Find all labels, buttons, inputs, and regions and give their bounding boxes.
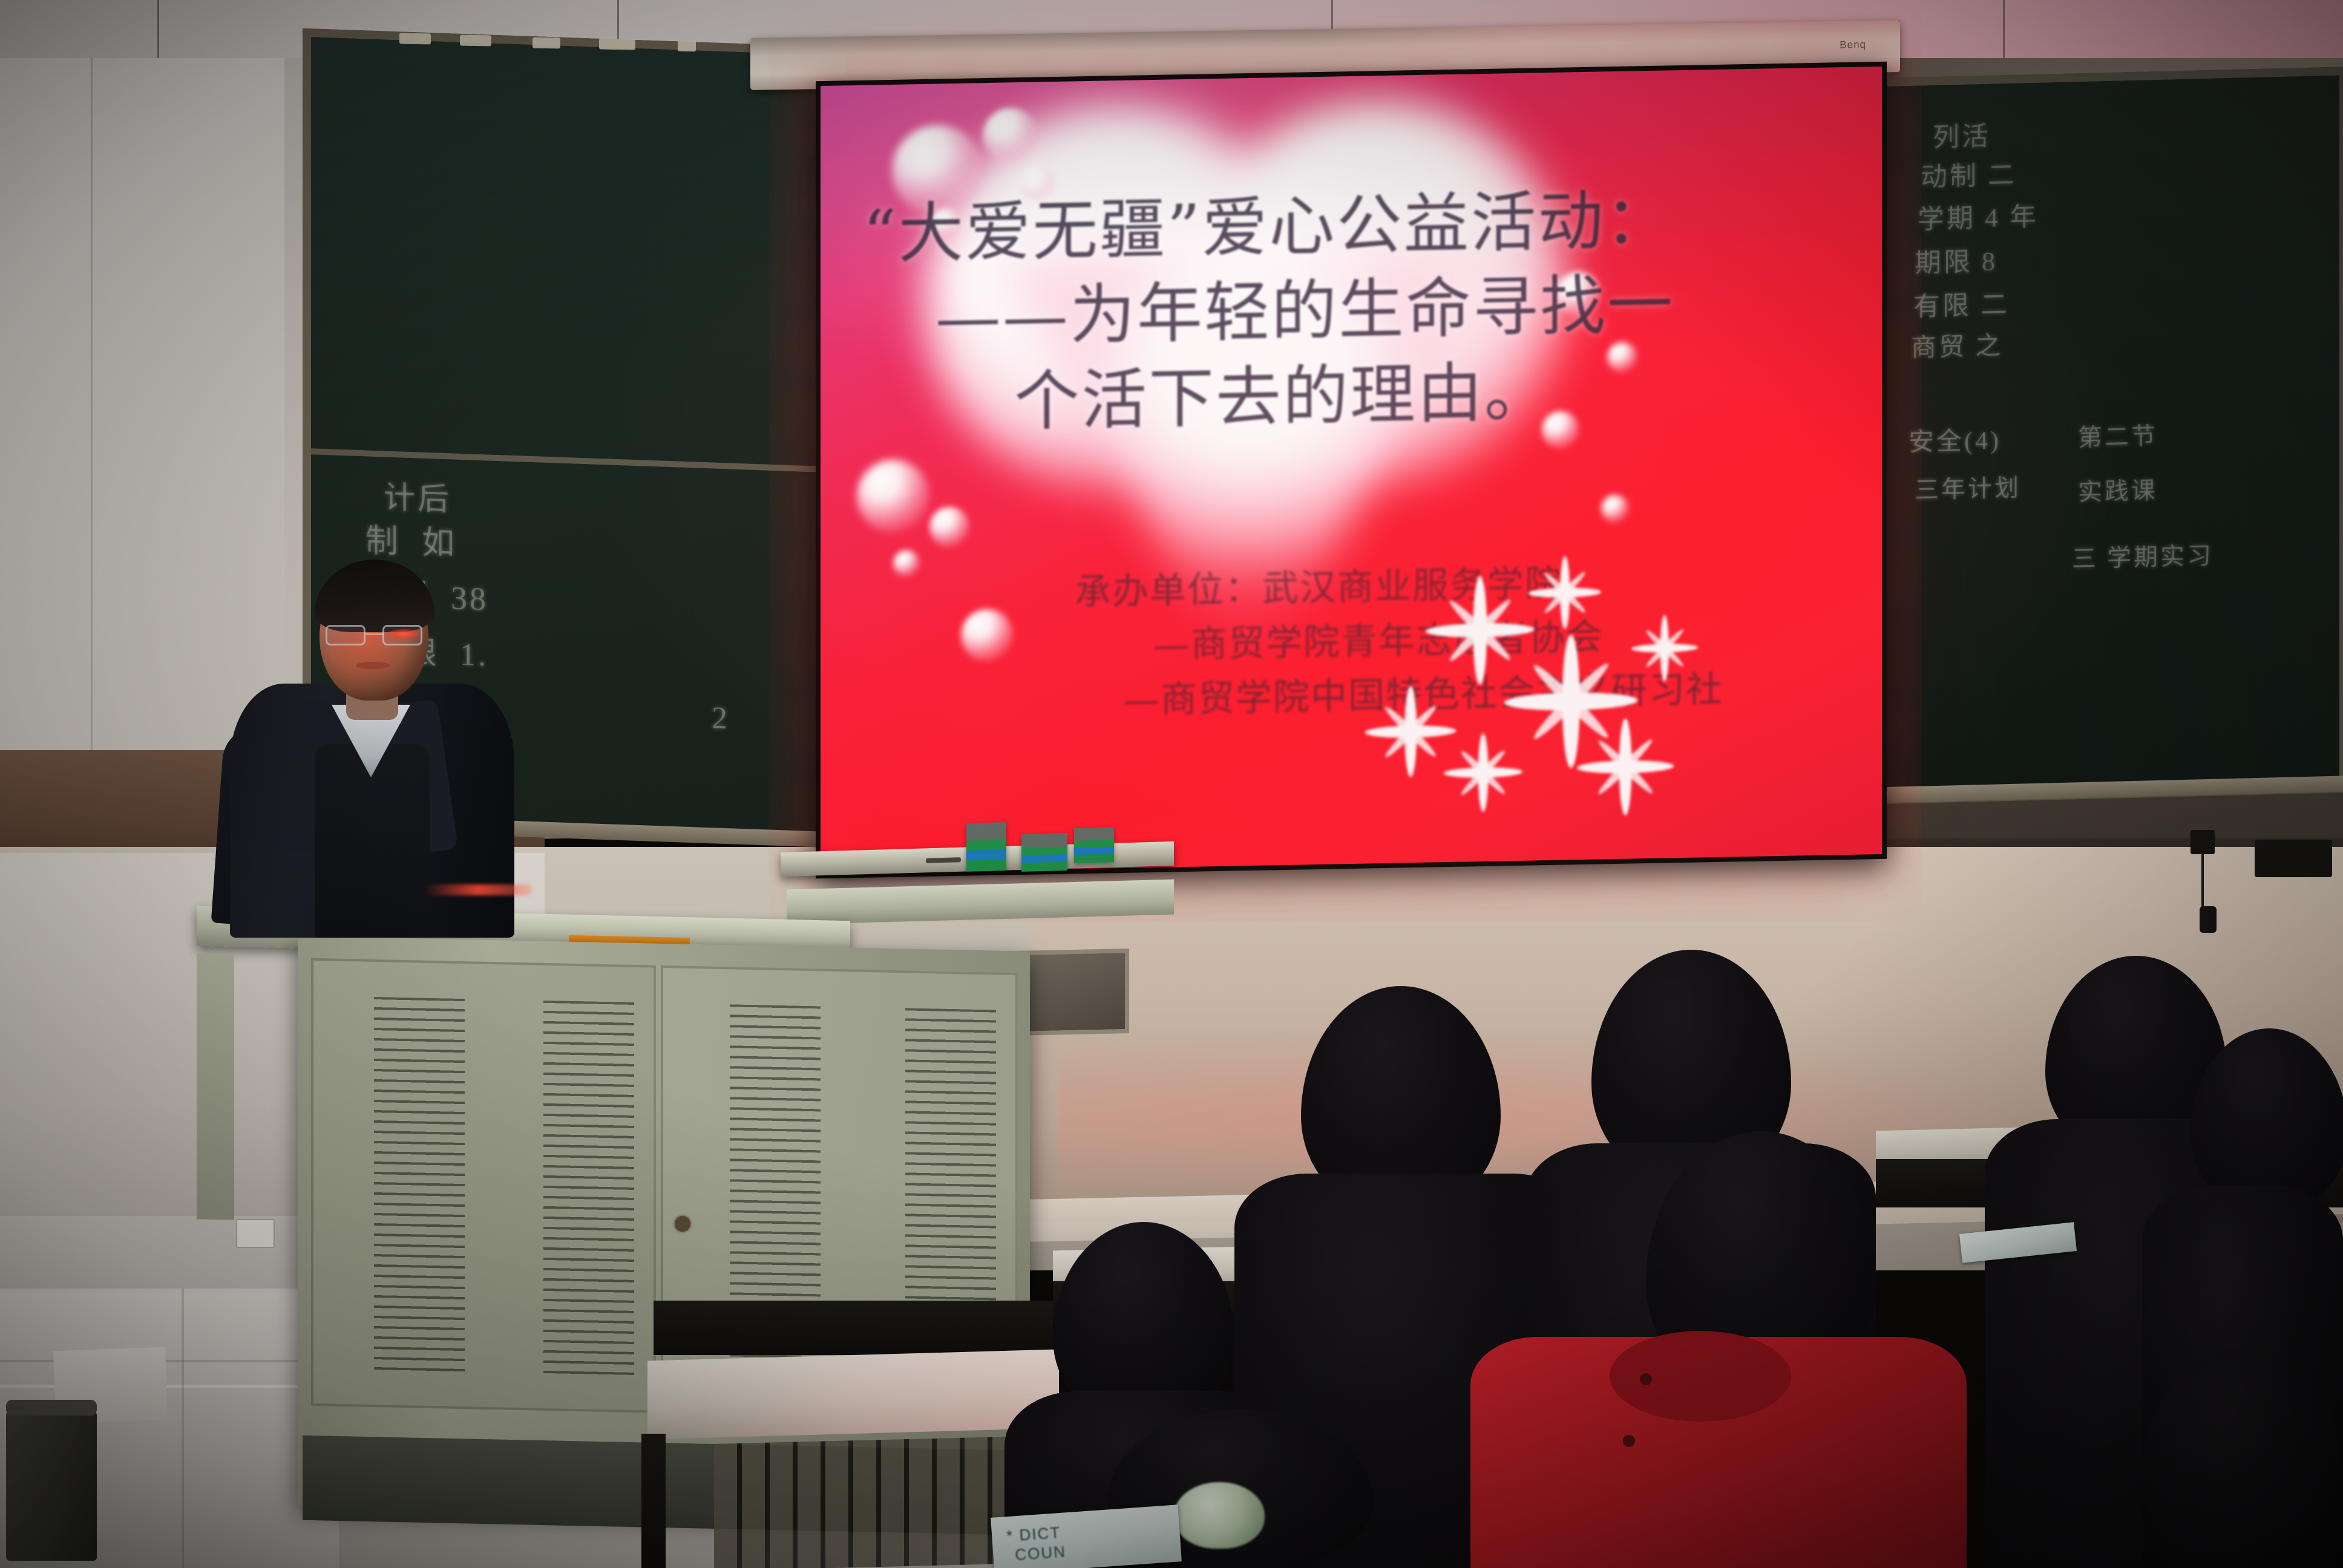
student-desk-frame — [654, 1301, 1053, 1355]
chalk-text: 实践课 — [2078, 473, 2158, 510]
wall-switch[interactable] — [2191, 830, 2215, 854]
slide-heading-line: ——为年轻的生命寻找一 — [936, 261, 1807, 362]
jacket-button — [1640, 1373, 1652, 1385]
left-plaster-wall — [0, 58, 284, 760]
classroom-scene: 计后 制 如 控制 38 有限 1. 2 列活 动制 二 学期 4 年 期限 8… — [0, 0, 2343, 1568]
chalk-text: 列活 — [1933, 117, 1991, 157]
chalk-stick — [460, 35, 491, 47]
podium-door-left[interactable] — [311, 958, 656, 1413]
chalk-text: 计后 — [384, 475, 451, 523]
book-title-line: COUN — [1014, 1543, 1066, 1563]
slide-heading-line: “大爱无疆”爱心公益活动： — [863, 175, 1807, 278]
chalk-stick — [678, 41, 696, 52]
slide-text-block: “大爱无疆”爱心公益活动： ——为年轻的生命寻找一 个活下去的理由。 承办单位：… — [821, 67, 1882, 874]
book-title-line: * DICT — [1006, 1524, 1061, 1545]
laser-pointer-glow — [424, 884, 532, 895]
slide-heading: “大爱无疆”爱心公益活动： ——为年轻的生命寻找一 个活下去的理由。 — [863, 175, 1807, 448]
desk-leg — [641, 1434, 666, 1568]
pull-switch[interactable] — [2200, 906, 2217, 933]
chalk-text: 有限 二 — [1913, 286, 2010, 327]
sparkle-icon — [1444, 733, 1522, 812]
lens-glare — [387, 629, 420, 639]
red-jacket-collar — [1610, 1331, 1791, 1422]
podium-left-leg — [197, 953, 234, 1220]
speaker-mouth — [356, 662, 390, 669]
wall-vent-window — [1014, 949, 1129, 1036]
slide-heading-line: 个活下去的理由。 — [1014, 345, 1807, 445]
chalk-stick — [399, 33, 431, 45]
hair-ornament — [1174, 1482, 1265, 1549]
sparkle-icon — [1365, 685, 1456, 778]
projector-brand-label: Benq — [1840, 39, 1866, 51]
desk-light-spill — [647, 1350, 1059, 1440]
chalk-text: 安全(4) — [1909, 422, 2001, 462]
chalk-text: 2 — [650, 693, 730, 742]
tile-seam — [182, 1289, 184, 1568]
presentation-slide: “大爱无疆”爱心公益活动： ——为年轻的生命寻找一 个活下去的理由。 承办单位：… — [821, 67, 1882, 874]
trash-bin — [6, 1410, 97, 1561]
chalk-text: 学期 4 年 — [1918, 198, 2039, 240]
chalk-text: 三年计划 — [1915, 471, 2021, 508]
chalk-stick — [532, 38, 560, 49]
sparkle-icon — [1631, 614, 1698, 682]
projection-screen: “大爱无疆”爱心公益活动： ——为年轻的生命寻找一 个活下去的理由。 承办单位：… — [816, 62, 1887, 878]
switch-cord — [2201, 853, 2204, 907]
chalk-text: 动制 二 — [1921, 156, 2017, 197]
chalk-text: 三 学期实习 — [2072, 538, 2214, 577]
blackboard-right: 列活 动制 二 学期 4 年 期限 8 有限 二 商贸 之 安全(4) 三年计划… — [1870, 67, 2343, 804]
sparkle-icon — [1577, 717, 1674, 816]
sparkle-icon — [1529, 555, 1601, 629]
jacket-button — [1623, 1435, 1635, 1447]
donation-box[interactable] — [1074, 827, 1114, 863]
chalk-stick — [599, 38, 635, 50]
pen — [926, 857, 961, 863]
chalk-text: 第二节 — [2078, 419, 2158, 456]
wall-outlet[interactable] — [236, 1219, 275, 1248]
tile-seam — [0, 1360, 339, 1362]
chalk-text: 期限 8 — [1915, 242, 1997, 283]
podium-lock-knob[interactable] — [675, 1216, 690, 1232]
donation-box[interactable] — [966, 822, 1006, 872]
wall-outlet-panel[interactable] — [2255, 840, 2332, 877]
chalk-text: 商贸 之 — [1911, 328, 2004, 367]
donation-box[interactable] — [1021, 833, 1067, 872]
